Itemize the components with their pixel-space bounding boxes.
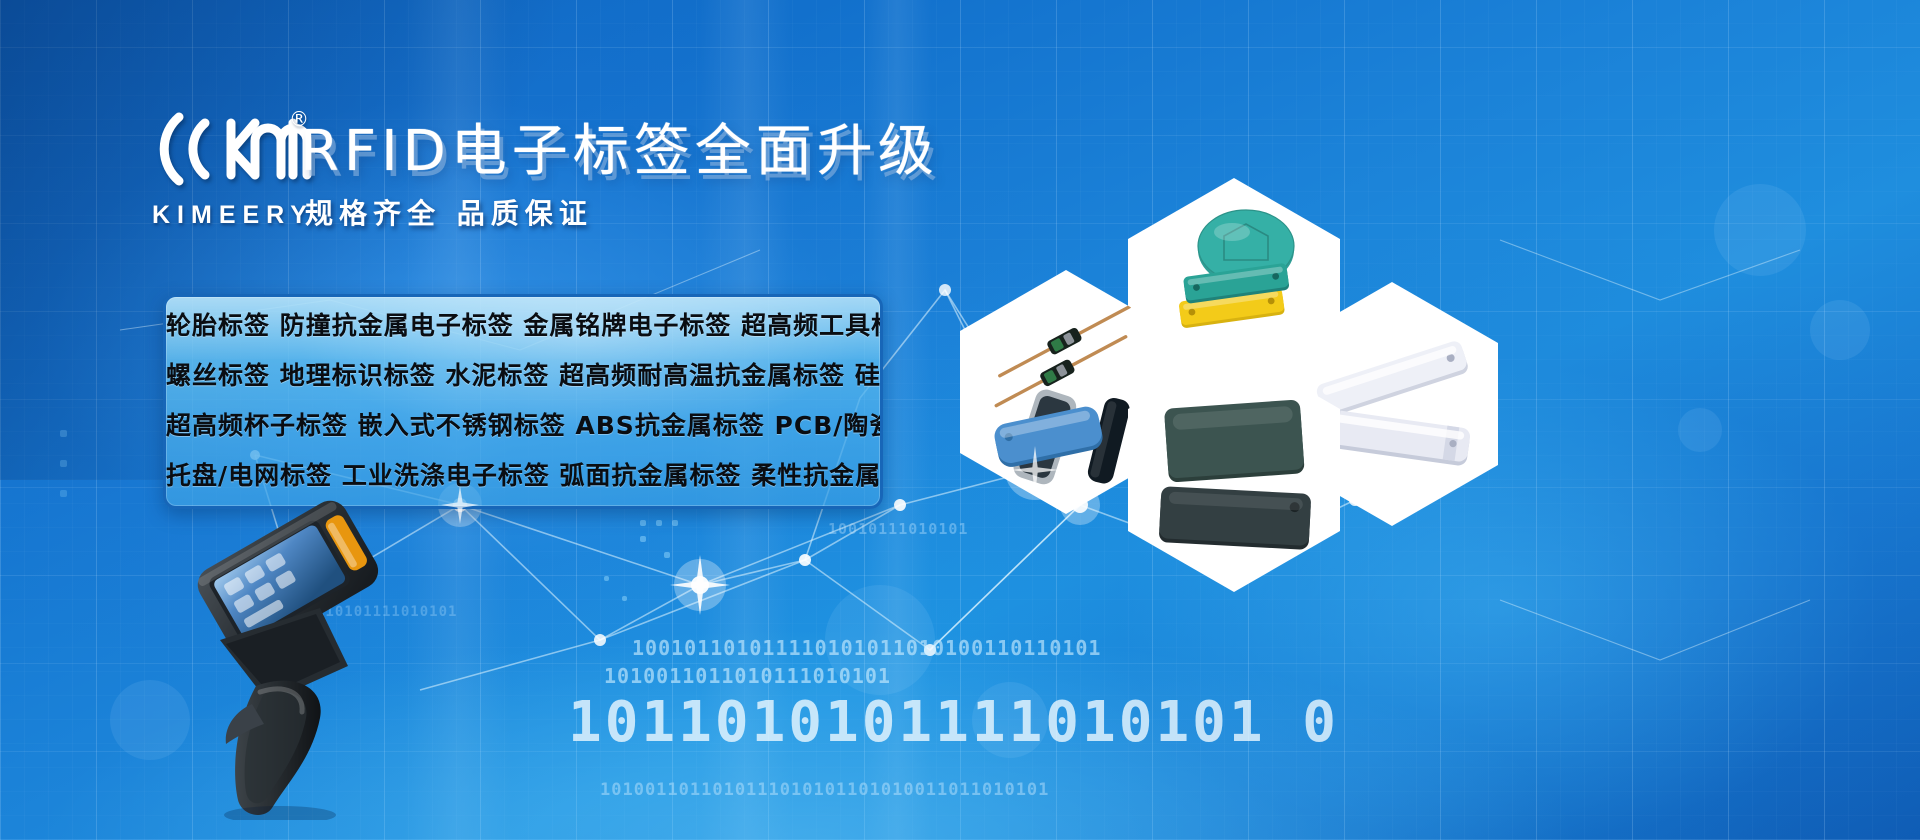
circuit-speck <box>640 536 646 542</box>
binary-code-line-1: 100101101011110101011010100110110101 <box>632 636 1101 660</box>
white-long-anti-metal-tag-icon <box>1315 339 1470 418</box>
circuit-speck <box>672 520 678 526</box>
binary-code-right: 10010111010101 <box>828 520 968 538</box>
circuit-speck <box>664 552 670 558</box>
binary-code-large: 1011010101111010101 0 <box>568 690 1339 755</box>
binary-code-line-2: 1010011011010111010101 <box>604 664 891 688</box>
brand-wordmark: KIMEERY <box>147 201 319 230</box>
product-category-rows: 轮胎标签 防撞抗金属电子标签 金属铭牌电子标签 超高频工具标签 螺丝标签 地理标… <box>166 301 880 501</box>
circuit-speck <box>60 460 67 467</box>
circuit-speck <box>656 520 662 526</box>
list-item: 超高频杯子标签 嵌入式不锈钢标签 ABS抗金属标签 PCB/陶瓷电子标签 <box>166 401 880 451</box>
circuit-speck <box>60 430 67 437</box>
list-item: 轮胎标签 防撞抗金属电子标签 金属铭牌电子标签 超高频工具标签 <box>166 301 880 351</box>
rfid-promo-banner: 10010111010101 1001011010111101010110101… <box>0 0 1920 840</box>
circuit-speck <box>622 596 627 601</box>
handheld-reader-icon <box>160 490 390 820</box>
circuit-speck <box>640 520 646 526</box>
brand-logo: ® KIMEERY <box>143 103 318 238</box>
rfid-handheld-reader-device <box>160 490 390 820</box>
circuit-speck <box>60 490 67 497</box>
product-category-list-box: 轮胎标签 防撞抗金属电子标签 金属铭牌电子标签 超高频工具标签 螺丝标签 地理标… <box>163 294 883 509</box>
dark-grey-anti-metal-tag-icon <box>1159 486 1312 550</box>
black-rectangular-anti-metal-tag-icon <box>1164 399 1305 482</box>
page-subtitle: 规格齐全 品质保证 <box>305 192 593 236</box>
list-item: 螺丝标签 地理标识标签 水泥标签 超高频耐高温抗金属标签 硅胶腕带 <box>166 351 880 401</box>
binary-code-bottom: 1010011011010111010101101010011011010101 <box>600 780 1049 800</box>
page-title: RFID电子标签全面升级 <box>300 116 939 188</box>
circuit-speck <box>604 576 609 581</box>
